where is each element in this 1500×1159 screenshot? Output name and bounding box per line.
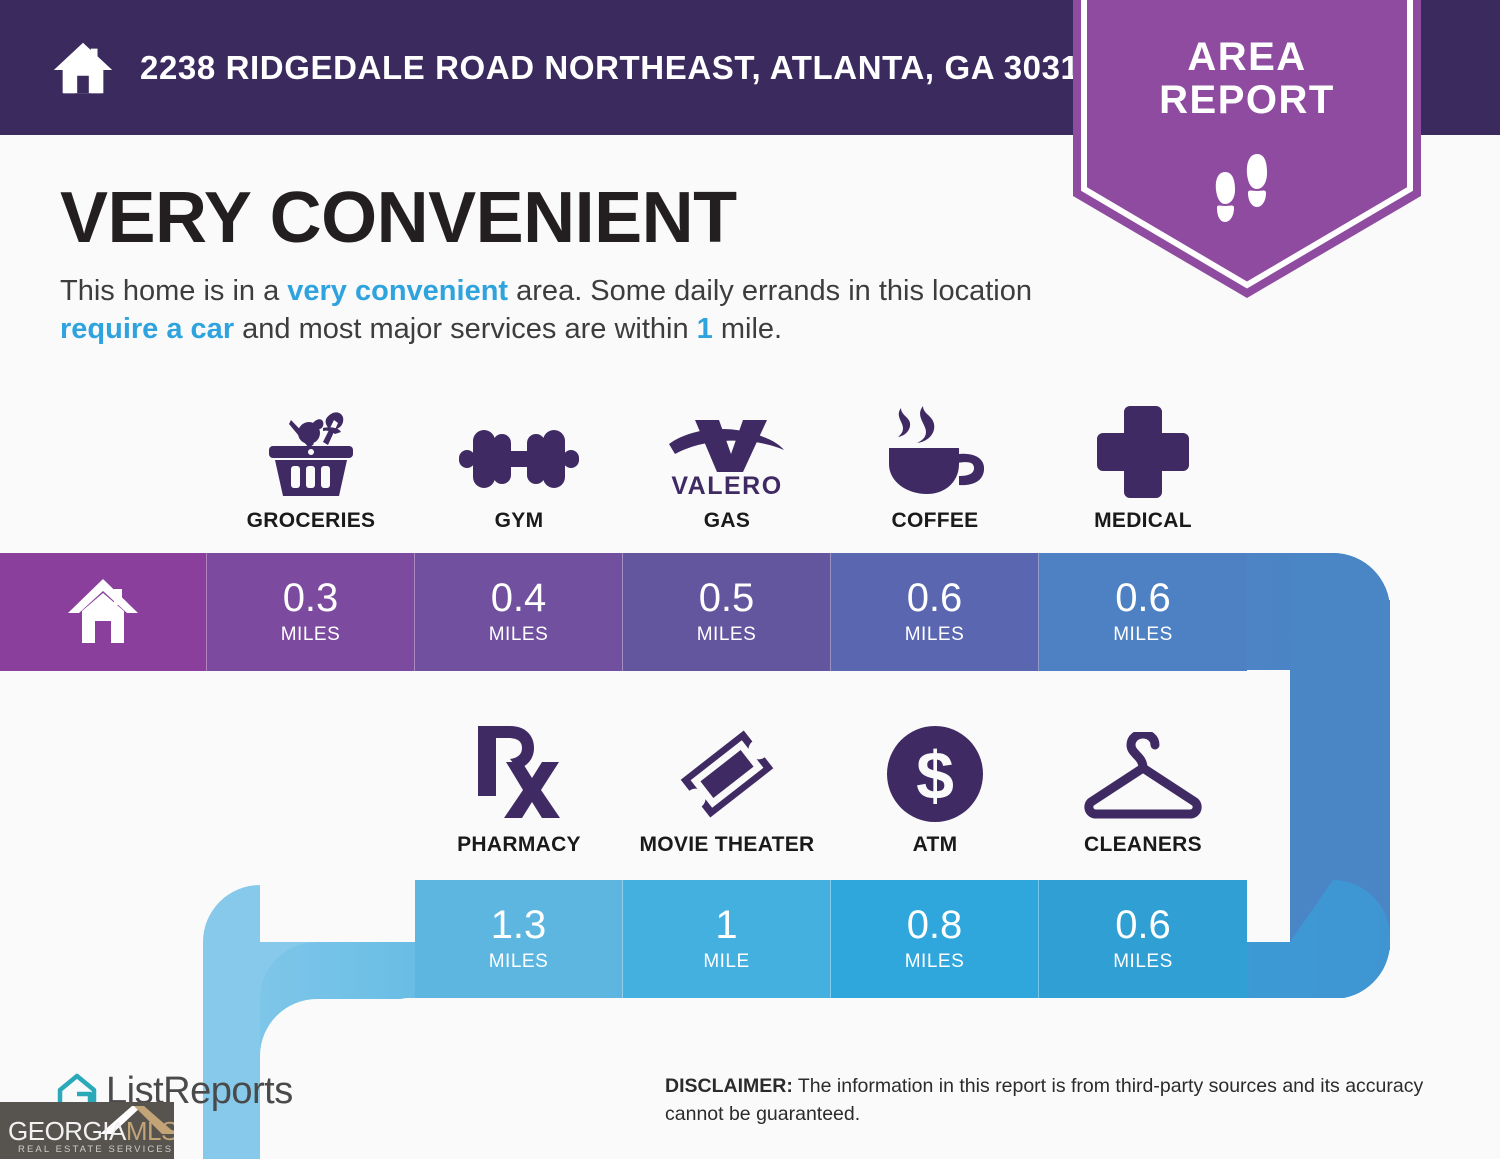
distance-unit: MILE — [703, 951, 749, 973]
distance-row-1: 0.3 MILES 0.4 MILES 0.5 MILES 0.6 MILES … — [0, 553, 1247, 671]
distance-cell-gas: 0.5 MILES — [623, 553, 831, 671]
amenity-movie-theater[interactable]: MOVIE THEATER — [623, 722, 831, 857]
amenity-label: GYM — [495, 509, 544, 533]
distance-value: 0.6 — [1115, 905, 1171, 945]
distance-unit: MILES — [1113, 951, 1173, 973]
amenity-label: GAS — [704, 509, 750, 533]
amenity-groceries[interactable]: GROCERIES — [207, 398, 415, 533]
mls-tagline: REAL ESTATE SERVICES — [18, 1144, 173, 1155]
amenity-coffee[interactable]: COFFEE — [831, 398, 1039, 533]
distance-unit: MILES — [281, 624, 341, 646]
medical-cross-icon — [1097, 398, 1189, 498]
home-marker-cell — [0, 553, 207, 671]
distance-value: 1 — [715, 905, 737, 945]
amenity-label: MEDICAL — [1094, 509, 1192, 533]
header-inner: 2238 RIDGEDALE ROAD NORTHEAST, ATLANTA, … — [52, 0, 1098, 135]
badge-title: AREA REPORT — [1073, 36, 1421, 122]
distance-cell-cleaners: 0.6 MILES — [1039, 880, 1247, 998]
distance-value: 0.8 — [907, 905, 963, 945]
amenity-medical[interactable]: MEDICAL — [1039, 398, 1247, 533]
groceries-basket-icon — [261, 398, 361, 498]
distance-cell-medical: 0.6 MILES — [1039, 553, 1247, 671]
amenity-icons-row-1: GROCERIES GYM — [207, 398, 1247, 533]
amenity-pharmacy[interactable]: PHARMACY — [415, 722, 623, 857]
distance-unit: MILES — [1113, 624, 1173, 646]
summary-highlight-2: require a car — [60, 313, 234, 345]
distance-cell-coffee: 0.6 MILES — [831, 553, 1039, 671]
dumbbell-icon — [459, 398, 579, 498]
distance-unit: MILES — [697, 624, 757, 646]
amenity-cleaners[interactable]: CLEANERS — [1039, 722, 1247, 857]
summary-highlight-3: 1 — [697, 313, 713, 345]
amenity-atm[interactable]: $ ATM — [831, 722, 1039, 857]
summary-text: This home is in a very convenient area. … — [60, 272, 1060, 349]
distance-cell-groceries: 0.3 MILES — [207, 553, 415, 671]
mls-accent-text: MLS — [126, 1116, 174, 1146]
movie-ticket-icon — [677, 722, 777, 822]
amenity-gym[interactable]: GYM — [415, 398, 623, 533]
valero-gas-icon: VALERO — [665, 398, 789, 498]
coffee-cup-icon — [883, 398, 987, 498]
clothes-hanger-icon — [1081, 722, 1205, 822]
summary-highlight-1: very convenient — [287, 275, 508, 307]
footsteps-icon — [1213, 150, 1283, 228]
svg-text:$: $ — [916, 738, 954, 814]
amenity-label: GROCERIES — [247, 509, 376, 533]
distance-value: 0.6 — [1115, 578, 1171, 618]
distance-value: 0.3 — [283, 578, 339, 618]
badge-line-1: AREA — [1073, 36, 1421, 79]
distance-value: 0.6 — [907, 578, 963, 618]
mls-primary-text: GEORGIA — [8, 1116, 126, 1146]
distance-unit: MILES — [905, 951, 965, 973]
summary-part-2: area. Some daily errands in this locatio… — [508, 275, 1032, 307]
amenity-label: COFFEE — [892, 509, 979, 533]
amenity-icons-row-2: PHARMACY MOVIE THEATER $ ATM — [415, 722, 1247, 857]
distance-cell-pharmacy: 1.3 MILES — [415, 880, 623, 998]
home-icon — [52, 37, 114, 99]
disclaimer: DISCLAIMER: The information in this repo… — [665, 1073, 1455, 1128]
distance-cell-gym: 0.4 MILES — [415, 553, 623, 671]
home-icon — [66, 577, 140, 647]
amenity-label: MOVIE THEATER — [639, 833, 814, 857]
distance-row-2: 1.3 MILES 1 MILE 0.8 MILES 0.6 MILES — [415, 880, 1247, 998]
rx-pharmacy-icon — [476, 722, 562, 822]
distance-unit: MILES — [489, 951, 549, 973]
amenity-gas[interactable]: VALERO GAS — [623, 398, 831, 533]
distance-value: 0.4 — [491, 578, 547, 618]
georgia-mls-logo: GEORGIAMLS REAL ESTATE SERVICES — [0, 1102, 174, 1159]
amenity-label: CLEANERS — [1084, 833, 1202, 857]
dollar-circle-icon: $ — [887, 722, 983, 822]
summary-part-3: and most major services are within — [234, 313, 697, 345]
distance-unit: MILES — [489, 624, 549, 646]
svg-text:VALERO: VALERO — [671, 472, 782, 498]
distance-unit: MILES — [905, 624, 965, 646]
badge-line-2: REPORT — [1073, 79, 1421, 122]
page-title: VERY CONVENIENT — [60, 182, 737, 254]
summary-part-4: mile. — [713, 313, 782, 345]
distance-cell-movie-theater: 1 MILE — [623, 880, 831, 998]
area-report-badge: AREA REPORT — [1073, 0, 1421, 298]
distance-value: 0.5 — [699, 578, 755, 618]
mls-wordmark: GEORGIAMLS — [8, 1116, 174, 1147]
distance-cell-atm: 0.8 MILES — [831, 880, 1039, 998]
amenity-label: ATM — [913, 833, 958, 857]
area-report-page: 2238 RIDGEDALE ROAD NORTHEAST, ATLANTA, … — [0, 0, 1500, 1159]
summary-part-1: This home is in a — [60, 275, 287, 307]
property-address: 2238 RIDGEDALE ROAD NORTHEAST, ATLANTA, … — [140, 49, 1098, 87]
disclaimer-label: DISCLAIMER: — [665, 1075, 793, 1097]
distance-value: 1.3 — [491, 905, 547, 945]
amenity-label: PHARMACY — [457, 833, 581, 857]
